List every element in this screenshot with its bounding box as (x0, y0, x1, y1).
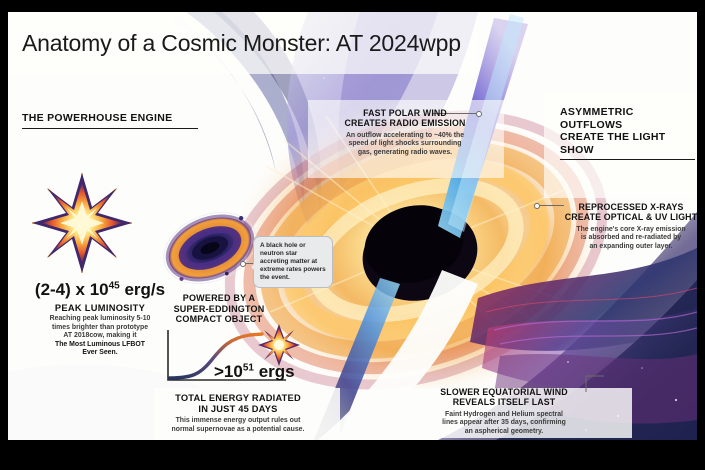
callout-equatorial-body-line3: an aspherical geometry. (406, 428, 602, 437)
page-title: Anatomy of a Cosmic Monster: AT 2024wpp (22, 30, 461, 57)
lum-desc-line3: AT 2018cow, making it (18, 332, 182, 341)
section-header-powerhouse-label: THE POWERHOUSE ENGINE (22, 112, 172, 124)
section-header-powerhouse-engine: THE POWERHOUSE ENGINE (22, 112, 198, 129)
callout-polar-wind-title-line2: CREATES RADIO EMISSION (314, 118, 496, 128)
total-energy-value: >1051 ergs (214, 362, 295, 382)
energy-value-exponent: 51 (243, 362, 254, 373)
energy-label-line2: IN JUST 45 DAYS (158, 404, 318, 415)
starburst-icon (26, 170, 138, 276)
callout-reprocessed-xrays: REPROCESSED X-RAYS CREATE OPTICAL & UV L… (557, 202, 697, 252)
energy-desc-line1: This immense energy output rules out (154, 417, 322, 426)
header-rule (22, 128, 198, 129)
callout-xrays-body-line2: is absorbed and re-radiated by (557, 234, 697, 243)
callout-polar-wind-body: An outflow accelerating to ~40% the spee… (314, 132, 496, 158)
infographic-poster: Anatomy of a Cosmic Monster: AT 2024wpp … (8, 12, 697, 440)
section-header-asymmetric-outflows: ASYMMETRIC OUTFLOWS CREATE THE LIGHT SHO… (560, 106, 695, 160)
lum-desc-line1: Reaching peak luminosity 5-10 (18, 315, 182, 324)
peak-luminosity-description: Reaching peak luminosity 5-10 times brig… (18, 315, 182, 358)
callout-polar-wind-body-line3: gas, generating radio waves. (314, 149, 496, 158)
callout-xrays-body-line3: an expanding outer layer. (557, 243, 697, 252)
lum-value-exponent: 45 (109, 280, 120, 291)
callout-xrays-title-line1: REPROCESSED X-RAYS (557, 202, 697, 212)
callout-equatorial-body-line2: lines appear after 35 days, confirming (406, 419, 602, 428)
callout-slower-equatorial-wind: SLOWER EQUATORIAL WIND REVEALS ITSELF LA… (406, 387, 602, 437)
callout-equatorial-title-line1: SLOWER EQUATORIAL WIND (406, 387, 602, 397)
header-rule (560, 159, 695, 160)
callout-polar-wind-title: FAST POLAR WIND CREATES RADIO EMISSION (314, 108, 496, 129)
lum-value-suffix: erg/s (120, 280, 165, 299)
leader-endpoint-dot (534, 203, 540, 209)
lum-desc-emphasis1: The Most Luminous LFBOT (18, 341, 182, 350)
callout-equatorial-title-line2: REVEALS ITSELF LAST (406, 397, 602, 407)
energy-value-suffix: ergs (254, 362, 295, 381)
callout-equatorial-body: Faint Hydrogen and Helium spectral lines… (406, 411, 602, 437)
energy-label-line1: TOTAL ENERGY RADIATED (158, 393, 318, 404)
callout-equatorial-title: SLOWER EQUATORIAL WIND REVEALS ITSELF LA… (406, 387, 602, 408)
compact-label-line1: POWERED BY A (160, 293, 278, 304)
callout-polar-wind-body-line1: An outflow accelerating to ~40% the (314, 132, 496, 141)
callout-fast-polar-wind: FAST POLAR WIND CREATES RADIO EMISSION A… (314, 108, 496, 158)
accretion-disk-icon (160, 208, 264, 290)
callout-polar-wind-title-line1: FAST POLAR WIND (314, 108, 496, 118)
compact-object-label: POWERED BY A SUPER-EDDINGTON COMPACT OBJ… (160, 293, 278, 325)
callout-xrays-title: REPROCESSED X-RAYS CREATE OPTICAL & UV L… (557, 202, 697, 223)
section-header-outflows-line1: ASYMMETRIC OUTFLOWS (560, 106, 695, 131)
callout-equatorial-body-line1: Faint Hydrogen and Helium spectral (406, 411, 602, 420)
total-energy-label: TOTAL ENERGY RADIATED IN JUST 45 DAYS (158, 393, 318, 415)
energy-value-prefix: >10 (214, 362, 243, 381)
total-energy-description: This immense energy output rules out nor… (154, 417, 322, 434)
section-header-outflows-line2: CREATE THE LIGHT SHOW (560, 131, 695, 156)
lum-desc-line2: times brighter than prototype (18, 324, 182, 333)
callout-xrays-title-line2: CREATE OPTICAL & UV LIGHT (557, 212, 697, 222)
compact-object-tooltip: A black hole or neutron star accreting m… (253, 236, 333, 288)
lum-desc-emphasis2: Ever Seen. (18, 349, 182, 358)
callout-xrays-body: The engine's core X-ray emission is abso… (557, 226, 697, 252)
lum-value-prefix: (2-4) x 10 (35, 280, 109, 299)
compact-label-line2: SUPER-EDDINGTON (160, 304, 278, 315)
energy-desc-line2: normal supernovae as a potential cause. (154, 426, 322, 435)
callout-xrays-body-line1: The engine's core X-ray emission (557, 226, 697, 235)
leader-endpoint-dot (240, 261, 246, 267)
callout-polar-wind-body-line2: speed of light shocks surrounding (314, 140, 496, 149)
